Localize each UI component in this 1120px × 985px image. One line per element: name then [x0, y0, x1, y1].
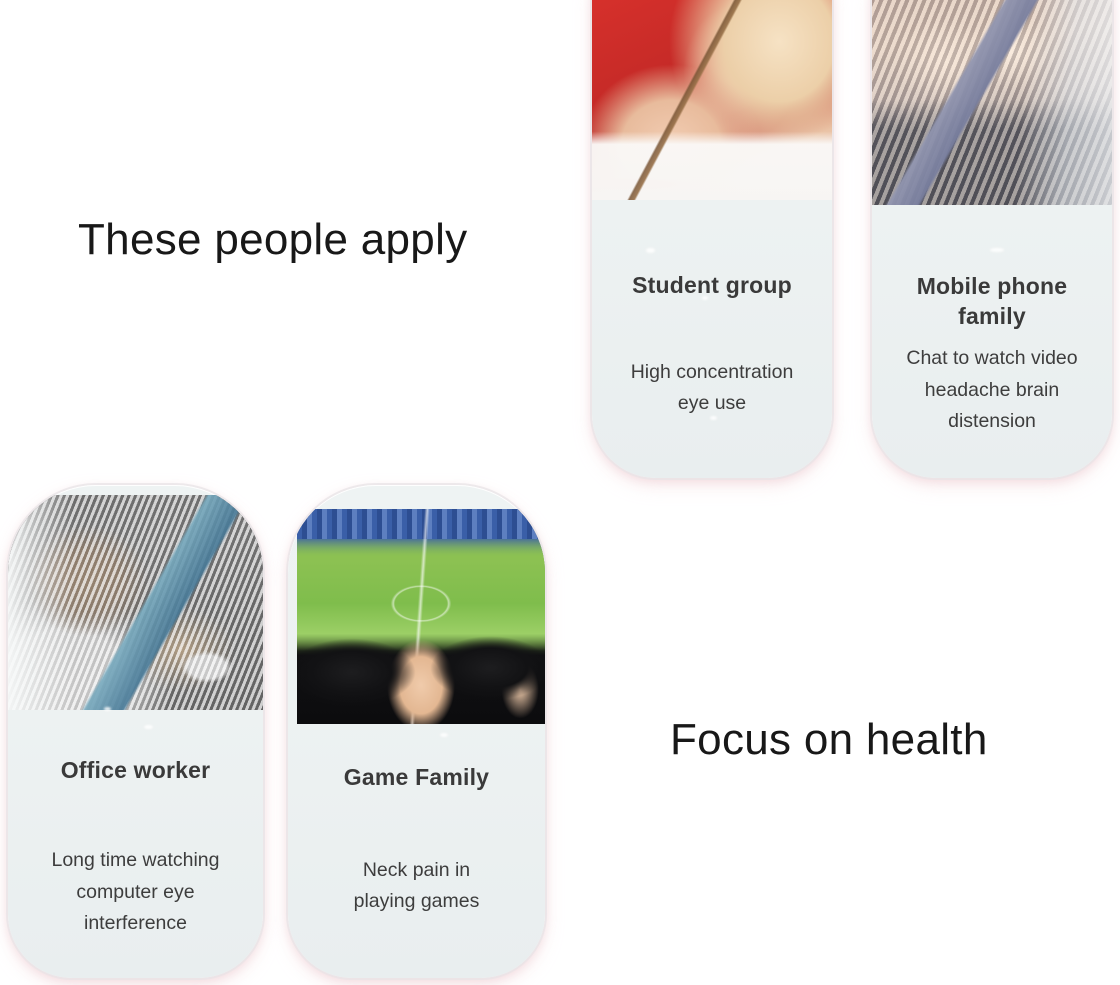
card-title-line: Mobile phone — [917, 273, 1068, 299]
students-writing-photo — [592, 0, 832, 200]
card-description-line: computer eye — [76, 881, 194, 903]
card-body: Office worker Long time watching compute… — [8, 756, 263, 940]
card-description-line: Neck pain in — [363, 859, 470, 881]
card-body: Mobile phone family Chat to watch video … — [872, 272, 1112, 438]
speckle — [144, 725, 153, 729]
speckle — [990, 248, 1004, 252]
card-description-line: eye use — [678, 392, 746, 414]
card-description-line: Chat to watch video — [906, 347, 1077, 369]
gaming-controller-photo — [297, 509, 545, 724]
card-description-line: distension — [948, 410, 1036, 432]
card-description: High concentration eye use — [606, 357, 818, 420]
card-description-line: interference — [84, 912, 187, 934]
stressed-office-worker-photo — [8, 495, 263, 710]
card-description-line: Long time watching — [51, 849, 219, 871]
card-title: Office worker — [22, 756, 249, 785]
card-description-line: playing games — [354, 890, 480, 912]
speckle — [440, 733, 448, 737]
card-body: Game Family Neck pain in playing games — [288, 763, 545, 918]
card-title: Student group — [606, 271, 818, 300]
card-title: Game Family — [302, 763, 531, 792]
card-office-worker: Office worker Long time watching compute… — [8, 485, 263, 978]
card-title: Mobile phone family — [886, 272, 1098, 331]
infographic-stage: These people apply Student group High co… — [0, 0, 1120, 985]
card-title-line: family — [958, 303, 1026, 329]
card-description-line: High concentration — [631, 361, 794, 383]
card-description-line: headache brain — [925, 379, 1059, 401]
headline-focus-on-health: Focus on health — [670, 718, 988, 762]
card-student-group: Student group High concentration eye use — [592, 0, 832, 478]
card-mobile-phone-family: Mobile phone family Chat to watch video … — [872, 0, 1112, 478]
card-game-family: Game Family Neck pain in playing games — [288, 485, 545, 978]
speckle — [646, 248, 655, 253]
card-body: Student group High concentration eye use — [592, 271, 832, 420]
card-description: Chat to watch video headache brain diste… — [886, 343, 1098, 438]
headline-these-people-apply: These people apply — [78, 218, 467, 262]
family-using-phone-photo — [872, 0, 1112, 205]
card-description: Neck pain in playing games — [302, 855, 531, 918]
card-description: Long time watching computer eye interfer… — [22, 845, 249, 940]
